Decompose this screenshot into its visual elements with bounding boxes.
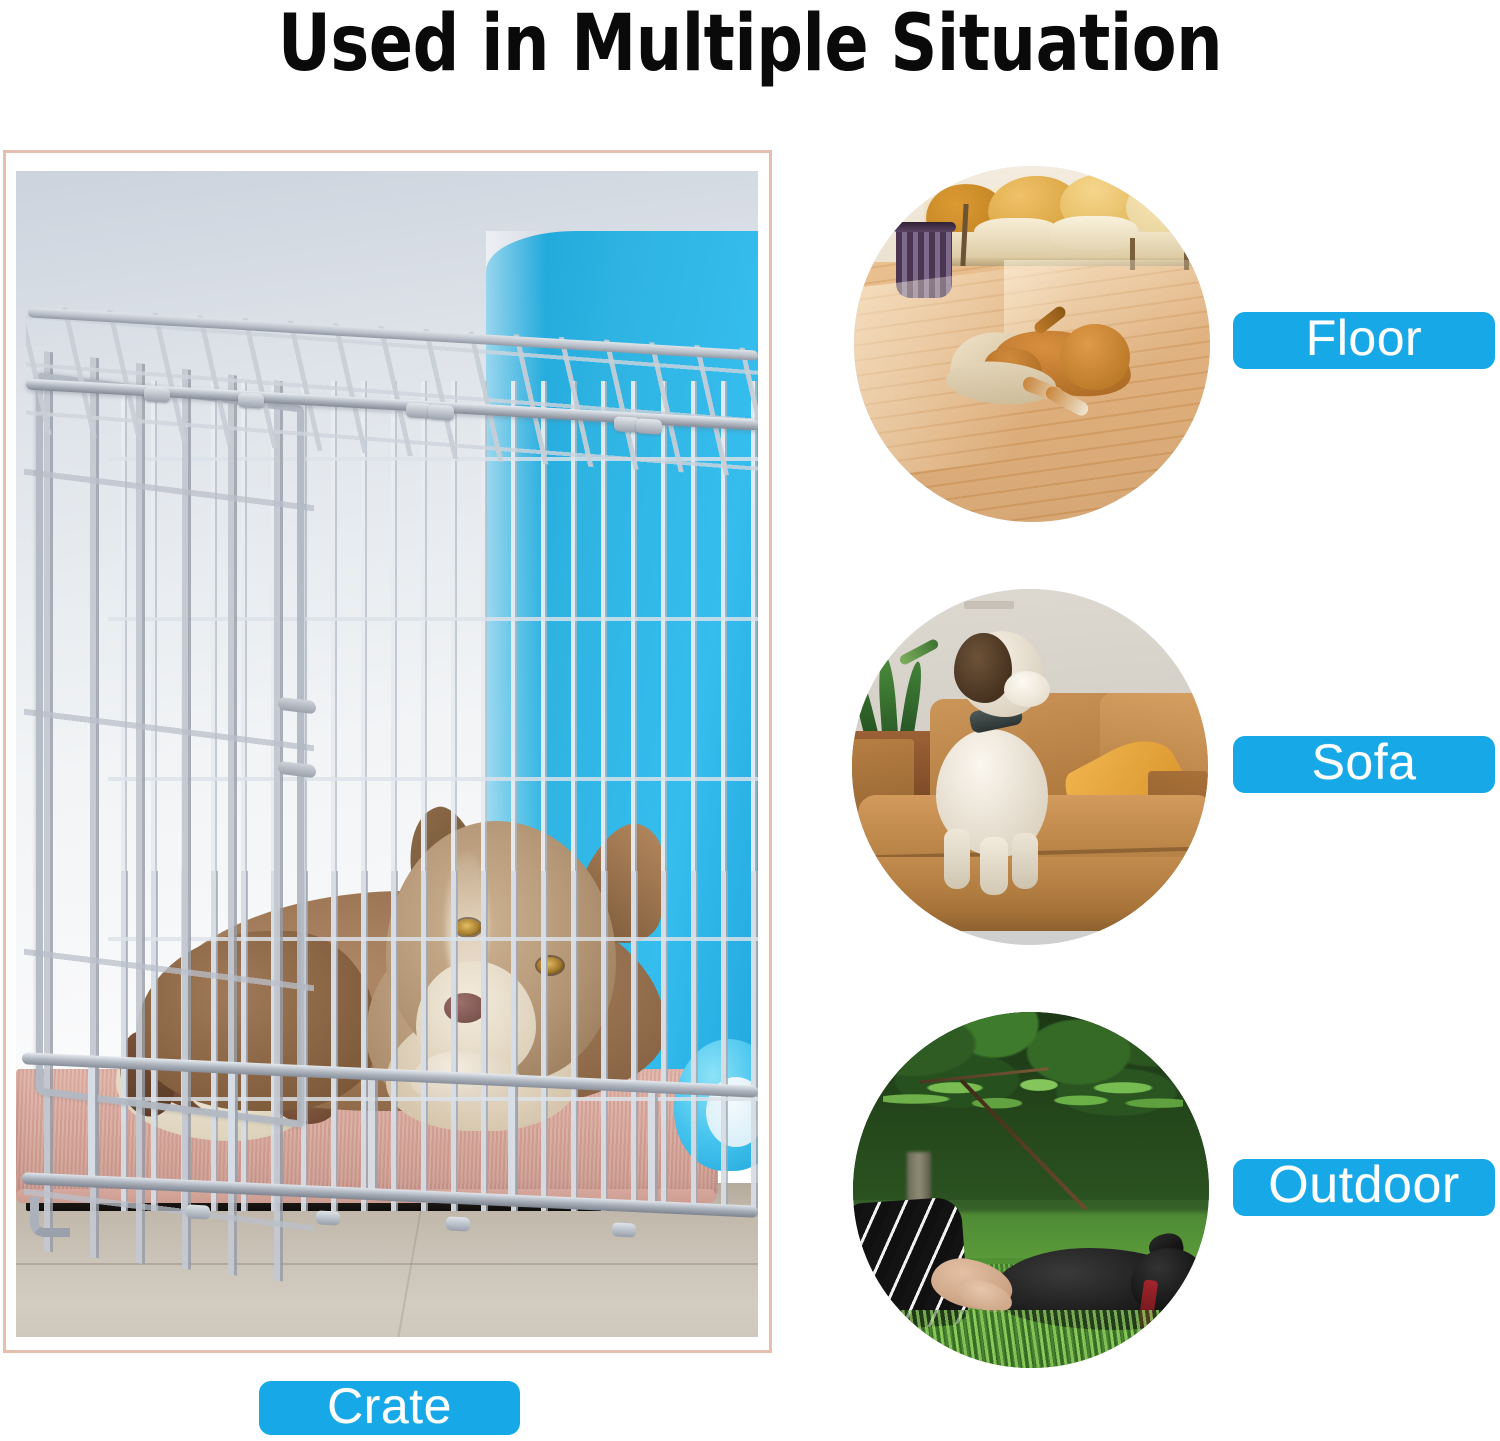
floor-scene (854, 166, 1210, 522)
sofa-scene-thumbnail (852, 589, 1208, 945)
blue-toy-belly (706, 1077, 758, 1147)
floor-scene-thumbnail (854, 166, 1210, 522)
page-title: Used in Multiple Situation (53, 0, 1448, 90)
sofa-cushion (1050, 216, 1138, 250)
crate-photo (16, 171, 758, 1337)
label-crate[interactable]: Crate (259, 1381, 520, 1435)
label-sofa[interactable]: Sofa (1233, 736, 1495, 793)
dog-hip (1060, 324, 1130, 390)
dog-leg (1012, 833, 1038, 889)
sofa-scene (852, 589, 1208, 945)
cream-pillow (1126, 178, 1210, 238)
outdoor-scene (853, 1012, 1209, 1368)
dog-snout (1004, 671, 1050, 707)
wall-trim (964, 601, 1014, 609)
dog-nose (444, 993, 486, 1023)
dog-curly-topknot (954, 633, 1012, 703)
dog-leg (944, 829, 970, 889)
dog-leg (980, 837, 1008, 895)
label-floor[interactable]: Floor (1233, 312, 1495, 369)
foreground-grass-blades (853, 1310, 1209, 1368)
dog-eye (455, 919, 481, 936)
planter-rim (892, 222, 956, 232)
crate-photo-frame (3, 150, 772, 1353)
mat-top-edge (16, 1189, 716, 1203)
infographic-page: Used in Multiple Situation (0, 0, 1500, 1441)
label-outdoor[interactable]: Outdoor (1233, 1159, 1495, 1216)
foreground-leaves (883, 1064, 1183, 1134)
floor-grout-line (16, 1263, 758, 1265)
sofa-cushion (974, 218, 1060, 252)
dog-eye (537, 957, 563, 974)
outdoor-scene-thumbnail (853, 1012, 1209, 1368)
